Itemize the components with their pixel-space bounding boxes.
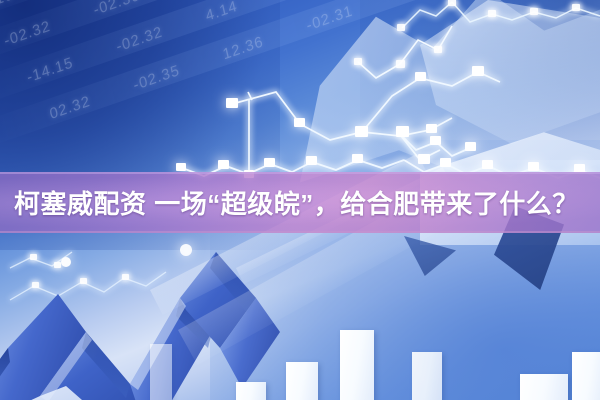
- chart-bar-2: [286, 362, 318, 400]
- chart-bar-3: [340, 330, 374, 400]
- chart-bar-left-faint: [150, 344, 172, 400]
- chart-bar-5: [520, 374, 568, 400]
- chart-bar-1: [236, 382, 266, 400]
- chart-bar-6: [572, 352, 600, 400]
- chart-bar-4: [412, 352, 442, 400]
- banner-image: -03.32-45.02-02.35-01.2621.06-11.26-45.0…: [0, 0, 600, 400]
- banner-title: 柯塞威配资 一场“超级皖”，给合肥带来了什么？: [14, 172, 586, 233]
